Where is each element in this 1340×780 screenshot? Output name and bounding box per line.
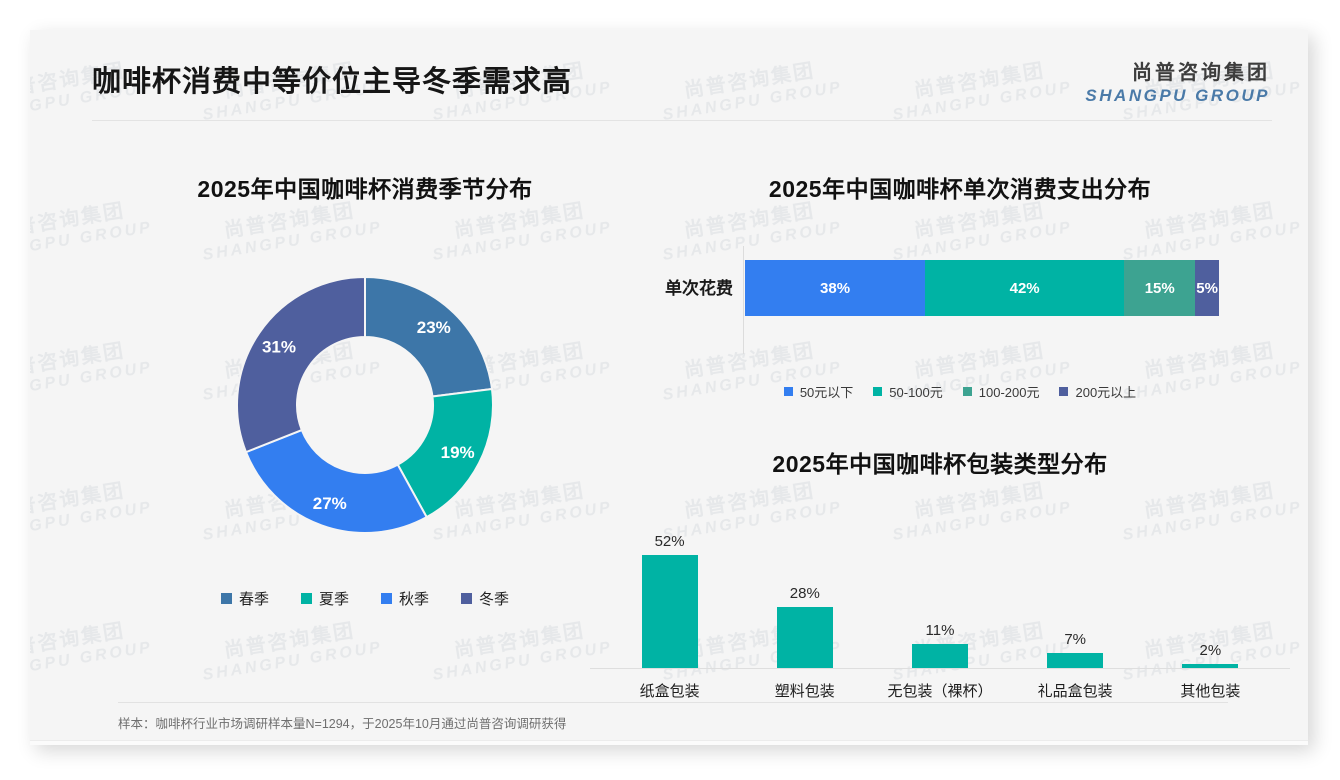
column-chart-value-label: 11% [926, 622, 955, 639]
stacked-bar-legend-item[interactable]: 100-200元 [963, 382, 1040, 401]
slide-root: 尚普咨询集团SHANGPU GROUP尚普咨询集团SHANGPU GROUP尚普… [0, 0, 1340, 780]
donut-legend-item[interactable]: 冬季 [461, 588, 509, 609]
column-chart-bar-rect [1182, 664, 1238, 668]
stacked-bar-legend-item[interactable]: 50元以下 [784, 382, 853, 401]
column-chart-value-label: 7% [1064, 631, 1086, 648]
column-chart-bar[interactable]: 11% [881, 509, 999, 668]
donut-slice-label: 27% [313, 494, 347, 513]
slide-header: 咖啡杯消费中等价位主导冬季需求高 尚普咨询集团 SHANGPU GROUP [30, 30, 1308, 122]
stacked-bar-chart: 单次花费 38%42%15%5% [630, 246, 1290, 356]
page-title: 咖啡杯消费中等价位主导冬季需求高 [92, 58, 572, 100]
logo-english-text: SHANGPU GROUP [1085, 86, 1270, 106]
column-chart-value-label: 2% [1200, 642, 1222, 659]
donut-legend: 春季夏季秋季冬季 [100, 588, 630, 609]
donut-slice[interactable] [246, 430, 427, 533]
donut-legend-label: 冬季 [479, 588, 509, 609]
stacked-bar-segment[interactable]: 15% [1124, 260, 1195, 316]
column-chart-bar[interactable]: 28% [746, 509, 864, 668]
donut-legend-item[interactable]: 秋季 [381, 588, 429, 609]
donut-slice-label: 23% [417, 318, 451, 337]
donut-chart: 23%19%27%31% [100, 240, 630, 570]
donut-slice-label: 31% [262, 338, 296, 357]
donut-svg: 23%19%27%31% [200, 240, 530, 570]
donut-legend-label: 春季 [239, 588, 269, 609]
column-chart-category-label: 无包装（裸杯） [881, 680, 999, 701]
stacked-bar-axis [743, 246, 744, 354]
sample-note-divider [118, 702, 1228, 703]
chart-panel-season-distribution: 2025年中国咖啡杯消费季节分布 23%19%27%31% 春季夏季秋季冬季 [100, 170, 630, 670]
stacked-bar-segment[interactable]: 42% [925, 260, 1124, 316]
stacked-bar-category-label: 单次花费 [630, 274, 733, 299]
donut-legend-item[interactable]: 春季 [221, 588, 269, 609]
slide-card: 尚普咨询集团SHANGPU GROUP尚普咨询集团SHANGPU GROUP尚普… [30, 30, 1308, 745]
column-chart-category-label: 其他包装 [1151, 680, 1269, 701]
column-chart-bar-rect [912, 644, 968, 668]
column-chart-bar-rect [777, 607, 833, 668]
donut-legend-label: 秋季 [399, 588, 429, 609]
stacked-bar-track: 38%42%15%5% [745, 260, 1219, 316]
legend-swatch-icon [963, 387, 972, 396]
column-chart-category-label: 塑料包装 [746, 680, 864, 701]
stacked-bar-legend-label: 50元以下 [800, 382, 853, 401]
column-chart-plot: 52%28%11%7%2% [590, 509, 1290, 669]
column-chart-bar[interactable]: 52% [611, 509, 729, 668]
legend-swatch-icon [1059, 387, 1068, 396]
column-chart-bar[interactable]: 2% [1151, 509, 1269, 668]
donut-legend-item[interactable]: 夏季 [301, 588, 349, 609]
stacked-bar-segment[interactable]: 5% [1195, 260, 1219, 316]
chart-panel-spend-distribution: 2025年中国咖啡杯单次消费支出分布 单次花费 38%42%15%5% 50元以… [630, 170, 1290, 430]
slide-footer: ©2025.12 SHANGPU GROUP www.shangpu-china… [30, 740, 1308, 745]
stacked-bar-legend-label: 100-200元 [979, 382, 1040, 401]
column-chart-bar-rect [1047, 653, 1103, 668]
column-chart-category-label: 纸盒包装 [611, 680, 729, 701]
stacked-bar-legend-item[interactable]: 50-100元 [873, 382, 942, 401]
chart-title-packaging: 2025年中国咖啡杯包装类型分布 [590, 445, 1290, 479]
brand-logo: 尚普咨询集团 SHANGPU GROUP [1085, 56, 1270, 106]
stacked-bar-legend-label: 50-100元 [889, 382, 942, 401]
stacked-bar-legend-label: 200元以上 [1075, 382, 1136, 401]
header-divider [92, 120, 1272, 121]
legend-swatch-icon [221, 593, 232, 604]
legend-swatch-icon [784, 387, 793, 396]
stacked-bar-legend-item[interactable]: 200元以上 [1059, 382, 1136, 401]
column-chart-bar-rect [642, 555, 698, 668]
stacked-bar-legend: 50元以下50-100元100-200元200元以上 [630, 382, 1290, 401]
column-chart-value-label: 28% [790, 585, 820, 602]
donut-slice[interactable] [237, 277, 365, 452]
legend-swatch-icon [301, 593, 312, 604]
legend-swatch-icon [873, 387, 882, 396]
legend-swatch-icon [381, 593, 392, 604]
column-chart-bar[interactable]: 7% [1016, 509, 1134, 668]
logo-chinese-text: 尚普咨询集团 [1085, 56, 1270, 85]
chart-panel-packaging-distribution: 2025年中国咖啡杯包装类型分布 52%28%11%7%2% 纸盒包装塑料包装无… [590, 445, 1290, 705]
legend-swatch-icon [461, 593, 472, 604]
column-chart-category-label: 礼品盒包装 [1016, 680, 1134, 701]
stacked-bar-segment[interactable]: 38% [745, 260, 925, 316]
chart-title-spend: 2025年中国咖啡杯单次消费支出分布 [630, 170, 1290, 204]
donut-legend-label: 夏季 [319, 588, 349, 609]
donut-slice-label: 19% [441, 443, 475, 462]
column-chart-category-labels: 纸盒包装塑料包装无包装（裸杯）礼品盒包装其他包装 [590, 680, 1290, 701]
chart-title-season: 2025年中国咖啡杯消费季节分布 [100, 170, 630, 204]
column-chart-value-label: 52% [655, 533, 685, 550]
sample-note: 样本：咖啡杯行业市场调研样本量N=1294，于2025年10月通过尚普咨询调研获… [118, 713, 566, 732]
